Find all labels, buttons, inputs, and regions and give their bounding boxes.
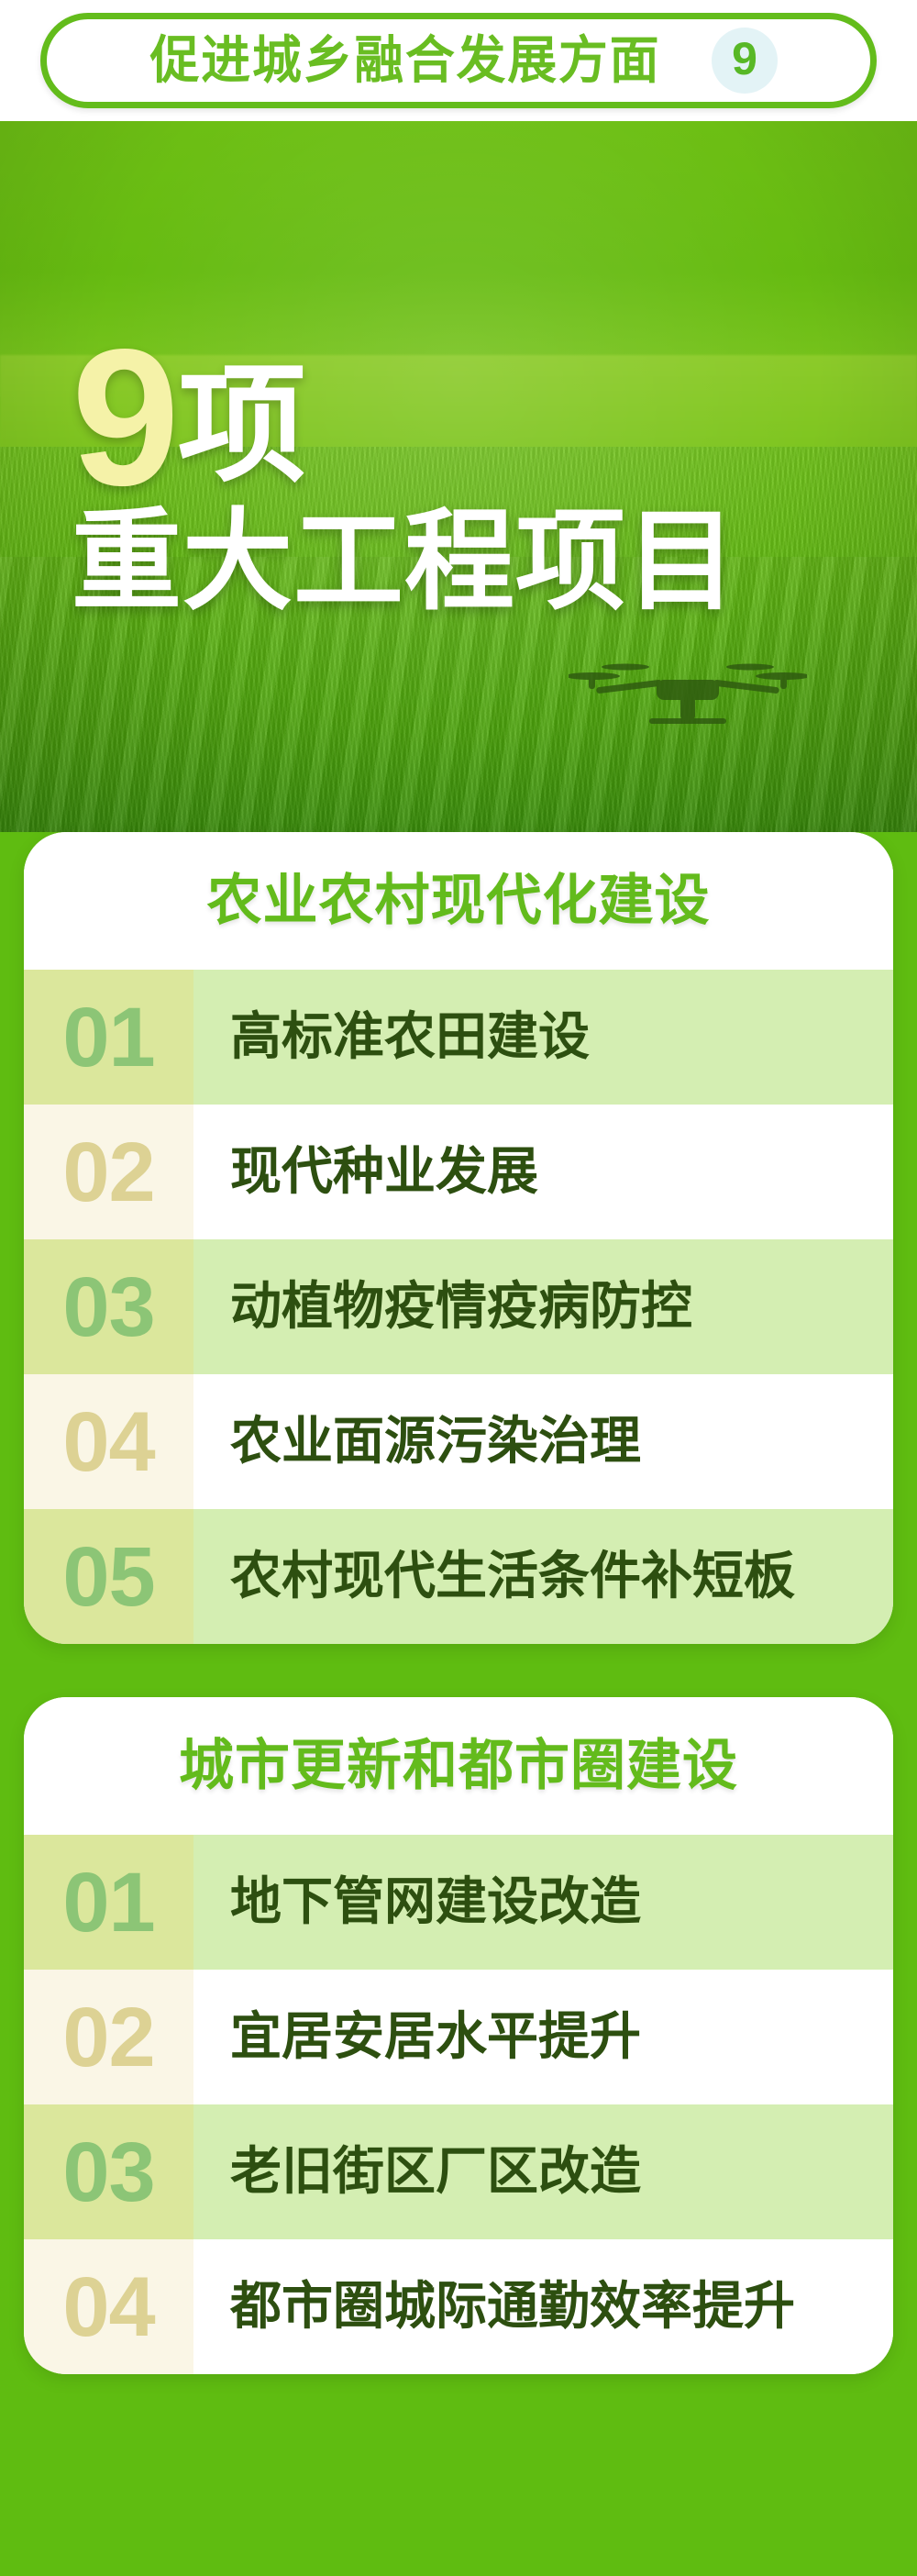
item-label: 现代种业发展 <box>193 1105 893 1239</box>
list-item[interactable]: 01 地下管网建设改造 <box>24 1835 893 1970</box>
list-item[interactable]: 02 宜居安居水平提升 <box>24 1970 893 2104</box>
item-number: 04 <box>24 2239 193 2374</box>
item-number: 01 <box>24 970 193 1105</box>
badge-glyph: 9 <box>732 36 757 82</box>
item-label: 农业面源污染治理 <box>193 1374 893 1509</box>
list-item[interactable]: 01 高标准农田建设 <box>24 970 893 1105</box>
list-item[interactable]: 03 老旧街区厂区改造 <box>24 2104 893 2239</box>
item-number: 05 <box>24 1509 193 1644</box>
card-urban-renewal: 城市更新和都市圈建设 01 地下管网建设改造 02 宜居安居水平提升 03 老旧… <box>24 1697 893 2374</box>
hero-count-unit: 项 <box>178 361 306 490</box>
list-item[interactable]: 03 动植物疫情疫病防控 <box>24 1239 893 1374</box>
hero-text-block: 9 项 重大工程项目 <box>72 334 737 622</box>
card-title: 农业农村现代化建设 <box>207 873 711 928</box>
card-header: 城市更新和都市圈建设 <box>24 1697 893 1835</box>
page-title: 促进城乡融合发展方面 <box>150 35 661 86</box>
list-item[interactable]: 04 都市圈城际通勤效率提升 <box>24 2239 893 2374</box>
hero-count-number: 9 <box>72 334 174 501</box>
header-pill: 促进城乡融合发展方面 9 <box>40 13 877 108</box>
list-item[interactable]: 04 农业面源污染治理 <box>24 1374 893 1509</box>
drone-icon <box>569 639 807 749</box>
item-label: 动植物疫情疫病防控 <box>193 1239 893 1374</box>
infographic-page: 促进城乡融合发展方面 9 <box>0 0 917 2576</box>
item-number: 04 <box>24 1374 193 1509</box>
nine-badge-icon: 9 <box>712 28 778 94</box>
item-number: 02 <box>24 1105 193 1239</box>
hero-banner: 9 项 重大工程项目 <box>0 121 917 832</box>
item-label: 高标准农田建设 <box>193 970 893 1105</box>
item-label: 都市圈城际通勤效率提升 <box>193 2239 893 2374</box>
list-item[interactable]: 02 现代种业发展 <box>24 1105 893 1239</box>
item-label: 地下管网建设改造 <box>193 1835 893 1970</box>
card-header: 农业农村现代化建设 <box>24 832 893 970</box>
header-band: 促进城乡融合发展方面 9 <box>0 0 917 121</box>
item-label: 宜居安居水平提升 <box>193 1970 893 2104</box>
item-number: 01 <box>24 1835 193 1970</box>
item-label: 农村现代生活条件补短板 <box>193 1509 893 1644</box>
item-label: 老旧街区厂区改造 <box>193 2104 893 2239</box>
item-number: 03 <box>24 1239 193 1374</box>
card-title: 城市更新和都市圈建设 <box>179 1738 738 1793</box>
item-number: 03 <box>24 2104 193 2239</box>
hero-headline-line1: 9 项 <box>72 334 737 501</box>
hero-subtitle: 重大工程项目 <box>72 503 737 622</box>
list-item[interactable]: 05 农村现代生活条件补短板 <box>24 1509 893 1644</box>
card-list: 农业农村现代化建设 01 高标准农田建设 02 现代种业发展 03 动植物疫情疫… <box>0 832 917 2429</box>
item-number: 02 <box>24 1970 193 2104</box>
card-agriculture-modernization: 农业农村现代化建设 01 高标准农田建设 02 现代种业发展 03 动植物疫情疫… <box>24 832 893 1644</box>
